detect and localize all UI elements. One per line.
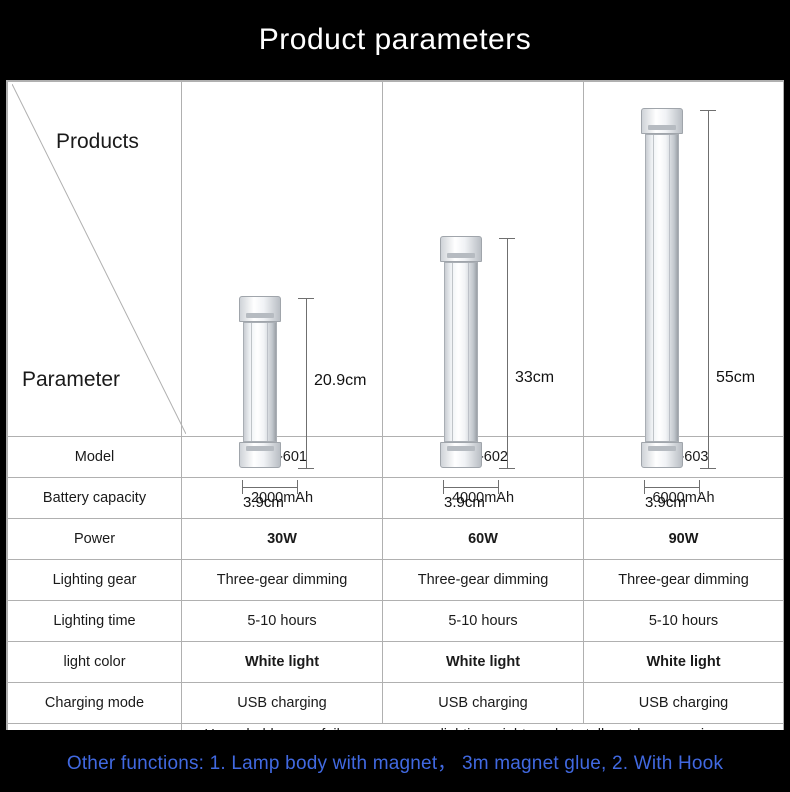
lamp-cell-3: 55cm 3.9cm	[584, 82, 784, 437]
measure-tick-v-bottom-1	[298, 468, 314, 469]
row-label: Charging mode	[8, 683, 182, 724]
row-value: 5-10 hours	[182, 601, 383, 642]
table-row: Lighting time 5-10 hours 5-10 hours 5-10…	[8, 601, 784, 642]
row-label: Model	[8, 437, 182, 478]
lamp-cap-top-1	[239, 296, 281, 322]
lamp-cap-bottom-3	[641, 442, 683, 468]
measure-line-h-3	[644, 487, 700, 488]
row-value: 90W	[584, 519, 784, 560]
row-value: 60W	[383, 519, 584, 560]
row-value: QX-603	[584, 437, 784, 478]
page-title: Product parameters	[259, 23, 531, 57]
measure-line-v-2	[507, 238, 508, 468]
measure-line-v-1	[306, 298, 307, 468]
row-value: USB charging	[182, 683, 383, 724]
lamp-width-label-2: 3.9cm	[444, 494, 485, 511]
parameter-label: Parameter	[22, 368, 120, 392]
measure-line-h-2	[443, 487, 499, 488]
measure-tick-h-left-3	[644, 480, 645, 494]
row-value: QX-602	[383, 437, 584, 478]
row-value: White light	[182, 642, 383, 683]
table-row: Power 30W 60W 90W	[8, 519, 784, 560]
lamp-image-3	[641, 108, 683, 468]
product-parameters-page: Product parameters Products Paramet	[0, 0, 790, 792]
row-value: Three-gear dimming	[584, 560, 784, 601]
measure-tick-h-right-3	[699, 480, 700, 494]
other-functions-text: Other functions: 1. Lamp body with magne…	[67, 748, 723, 775]
illustration-row: Products Parameter	[8, 82, 784, 437]
row-value: Three-gear dimming	[182, 560, 383, 601]
row-label: Battery capacity	[8, 478, 182, 519]
measure-tick-v-top-3	[700, 110, 716, 111]
lamp-height-label-2: 33cm	[515, 369, 554, 387]
measure-tick-v-bottom-3	[700, 468, 716, 469]
corner-header-cell: Products Parameter	[8, 82, 182, 437]
measure-tick-v-bottom-2	[499, 468, 515, 469]
lamp-width-label-1: 3.9cm	[243, 494, 284, 511]
table-row: light color White light White light Whit…	[8, 642, 784, 683]
page-header: Product parameters	[0, 0, 790, 80]
row-value: QX-601	[182, 437, 383, 478]
lamp-width-label-3: 3.9cm	[645, 494, 686, 511]
table-row: Lighting gear Three-gear dimming Three-g…	[8, 560, 784, 601]
lamp-body-2	[444, 262, 478, 442]
lamp-height-label-3: 55cm	[716, 369, 755, 387]
row-label: Lighting time	[8, 601, 182, 642]
lamp-cap-top-3	[641, 108, 683, 134]
lamp-image-1	[239, 296, 281, 468]
measure-line-h-1	[242, 487, 298, 488]
measure-line-v-3	[708, 110, 709, 468]
row-value: 5-10 hours	[383, 601, 584, 642]
table-row: Charging mode USB charging USB charging …	[8, 683, 784, 724]
measure-tick-h-left-2	[443, 480, 444, 494]
lamp-body-3	[645, 134, 679, 442]
lamp-cell-1: 20.9cm 3.9cm	[182, 82, 383, 437]
products-label: Products	[56, 130, 139, 154]
lamp-cell-2: 33cm 3.9cm	[383, 82, 584, 437]
row-value: White light	[383, 642, 584, 683]
row-label: Power	[8, 519, 182, 560]
measure-tick-h-right-2	[498, 480, 499, 494]
lamp-body-1	[243, 322, 277, 442]
row-value: White light	[584, 642, 784, 683]
lamp-cap-top-2	[440, 236, 482, 262]
measure-tick-h-left-1	[242, 480, 243, 494]
lamp-image-2	[440, 236, 482, 468]
row-label: Lighting gear	[8, 560, 182, 601]
lamp-cap-bottom-1	[239, 442, 281, 468]
lamp-height-label-1: 20.9cm	[314, 372, 366, 390]
row-value: USB charging	[383, 683, 584, 724]
parameters-table-wrap: Products Parameter	[6, 80, 784, 765]
row-value: 30W	[182, 519, 383, 560]
row-value: 5-10 hours	[584, 601, 784, 642]
parameters-table: Products Parameter	[7, 81, 784, 765]
measure-tick-v-top-2	[499, 238, 515, 239]
page-footer: Other functions: 1. Lamp body with magne…	[0, 730, 790, 792]
measure-tick-v-top-1	[298, 298, 314, 299]
row-label: light color	[8, 642, 182, 683]
row-value: Three-gear dimming	[383, 560, 584, 601]
measure-tick-h-right-1	[297, 480, 298, 494]
row-value: USB charging	[584, 683, 784, 724]
lamp-cap-bottom-2	[440, 442, 482, 468]
